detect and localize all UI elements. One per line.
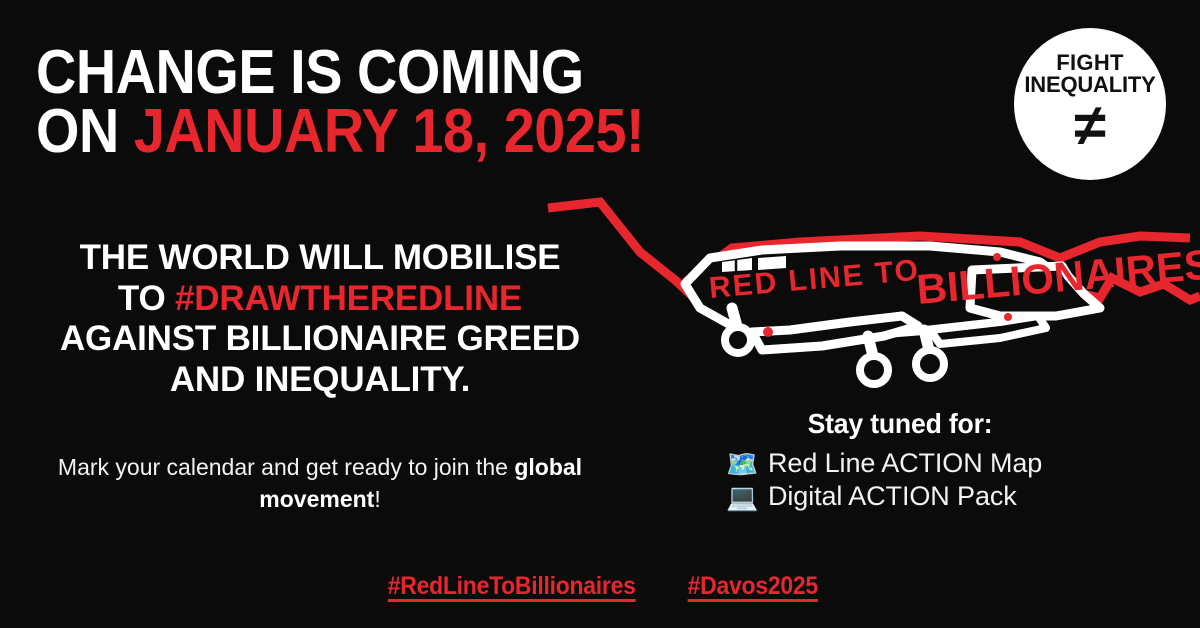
- stay-tuned-item-label: Digital ACTION Pack: [768, 481, 1017, 512]
- main-landing-gear-strut-1: [868, 336, 874, 360]
- page-title: CHANGE IS COMING ON JANUARY 18, 2025!: [36, 44, 576, 162]
- headline-on-prefix: ON: [36, 97, 134, 166]
- main-landing-gear-strut-2: [924, 330, 930, 354]
- badge-line-1: FIGHT: [1056, 52, 1124, 74]
- stay-tuned-item-label: Red Line ACTION Map: [768, 448, 1042, 479]
- list-item: 💻 Digital ACTION Pack: [726, 481, 1100, 512]
- not-equal-icon: ≠: [1074, 101, 1106, 150]
- tagline-part-1: Mark your calendar and get ready to join…: [58, 454, 514, 480]
- plane-text-billionaires: BILLIONAIRES: [915, 240, 1200, 313]
- subheadline-line-4: AND INEQUALITY.: [20, 360, 620, 401]
- tail-red-chevron: [970, 268, 1060, 308]
- subheadline-line-2: TO #DRAWTHEREDLINE: [20, 279, 620, 320]
- headline-line-1: CHANGE IS COMING: [36, 44, 576, 103]
- main-landing-gear-wheel-1: [860, 356, 888, 384]
- red-line-over-fuselage: [688, 236, 1190, 312]
- headline-date: JANUARY 18, 2025!: [134, 97, 644, 166]
- subheadline: THE WORLD WILL MOBILISE TO #DRAWTHEREDLI…: [20, 238, 620, 400]
- nose-landing-gear-wheel: [725, 327, 751, 353]
- list-item: 🗺️ Red Line ACTION Map: [726, 448, 1100, 479]
- nose-landing-gear-strut: [732, 308, 738, 330]
- subheadline-to-prefix: TO: [118, 279, 175, 318]
- fuselage-dot-marking-3: [1004, 313, 1012, 321]
- subheadline-line-1: THE WORLD WILL MOBILISE: [20, 238, 620, 279]
- plane-text-red-line-to: RED LINE TO: [708, 254, 922, 305]
- main-wing: [752, 316, 918, 350]
- drawtheredline-hashtag: #DRAWTHEREDLINE: [175, 279, 522, 318]
- stay-tuned-section: Stay tuned for: 🗺️ Red Line ACTION Map 💻…: [700, 408, 1100, 514]
- hashtag-davos2025[interactable]: #Davos2025: [688, 572, 818, 601]
- left-content-column: CHANGE IS COMING ON JANUARY 18, 2025! TH…: [0, 0, 640, 628]
- main-landing-gear-wheel-2: [916, 350, 944, 378]
- headline-line-2: ON JANUARY 18, 2025!: [36, 103, 576, 162]
- fuselage-dot-marking-2: [993, 253, 1001, 261]
- cockpit-window-icon: [722, 258, 752, 272]
- subheadline-line-3: AGAINST BILLIONAIRE GREED: [20, 319, 620, 360]
- tagline-part-2: !: [374, 486, 380, 512]
- red-line-zigzag-right: [1075, 278, 1200, 300]
- tagline: Mark your calendar and get ready to join…: [20, 452, 620, 515]
- laptop-icon: 💻: [726, 484, 756, 510]
- horizontal-stabiliser: [930, 316, 1046, 344]
- fight-inequality-logo-badge: FIGHT INEQUALITY ≠: [1014, 28, 1166, 180]
- cockpit-window-icon-2: [758, 256, 786, 270]
- campaign-poster: CHANGE IS COMING ON JANUARY 18, 2025! TH…: [0, 0, 1200, 628]
- tail-fin: [970, 266, 1100, 316]
- plane-fuselage: [685, 246, 1060, 338]
- hashtag-redlinetobillionaires[interactable]: #RedLineToBillionaires: [387, 572, 635, 601]
- footer-hashtags: #RedLineToBillionaires #Davos2025: [0, 572, 1200, 601]
- stay-tuned-title: Stay tuned for:: [710, 408, 1090, 440]
- world-map-icon: 🗺️: [726, 451, 756, 477]
- fuselage-dot-marking: [763, 327, 773, 337]
